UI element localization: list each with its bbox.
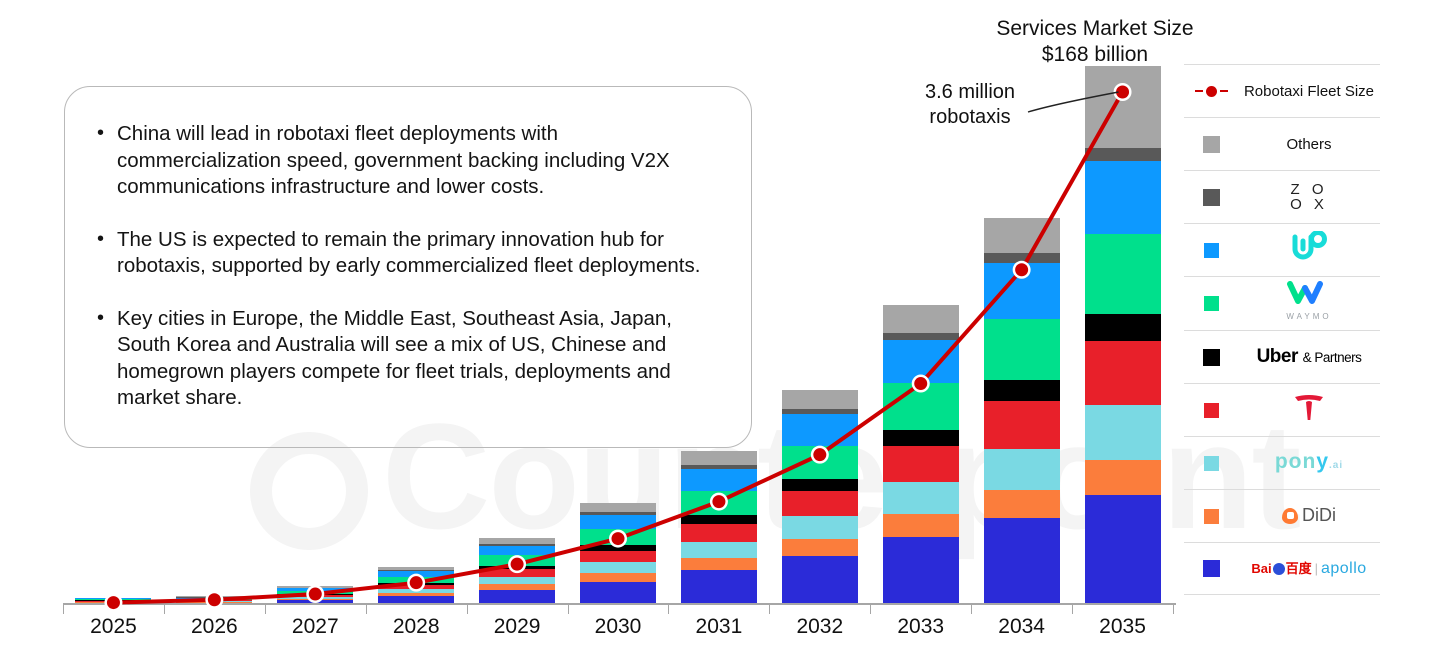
x-axis-label: 2026 [159,615,269,639]
bar-segment-waymo [1085,234,1161,314]
bar-segment-didi [782,539,858,556]
x-axis-tick [1173,605,1174,614]
bar-segment-uber-partners [782,479,858,491]
bar-segment-pony-ai [782,516,858,539]
legend-item-pony-ai[interactable]: pony.ai [1184,436,1380,489]
color-swatch-icon [1184,189,1238,206]
bullet-dot-icon: • [97,120,104,147]
insights-callout-box: •China will lead in robotaxi fleet deplo… [64,86,752,448]
bar-segment-others [681,451,757,464]
x-axis-tick [265,605,266,614]
bar-segment-baidu-apollo [984,518,1060,604]
x-axis-tick [1072,605,1073,614]
x-axis-tick [769,605,770,614]
color-swatch-icon [1184,509,1238,524]
bar-segment-tesla [580,551,656,563]
legend-item-didi[interactable]: DiDi [1184,489,1380,542]
x-axis-tick [870,605,871,614]
insight-text: The US is expected to remain the primary… [117,228,700,278]
bar-segment-waymo [681,491,757,515]
bar-column[interactable] [782,390,858,604]
bar-segment-tesla [479,569,555,577]
bar-segment-zoox [984,253,1060,263]
bar-segment-tesla [782,491,858,517]
legend-item-tesla[interactable] [1184,383,1380,436]
bar-segment-uber-partners [883,430,959,446]
services-market-size-annotation: Services Market Size $168 billion [930,16,1260,68]
bar-segment-others [1085,66,1161,148]
legend-item-robotaxi-fleet-size[interactable]: Robotaxi Fleet Size [1184,64,1380,117]
bar-segment-weride [782,414,858,445]
bar-segment-waymo [984,319,1060,380]
legend-color-swatch [1204,243,1219,258]
legend-color-swatch [1203,189,1220,206]
bar-segment-pony-ai [883,482,959,514]
insight-text: China will lead in robotaxi fleet deploy… [117,122,670,198]
bar-segment-others [984,218,1060,253]
color-swatch-icon [1184,136,1238,153]
x-axis-line [63,603,1176,605]
insights-list: •China will lead in robotaxi fleet deplo… [91,121,721,412]
bar-segment-weride [984,263,1060,319]
x-axis-label: 2033 [866,615,976,639]
x-axis-tick [164,605,165,614]
legend-color-swatch [1204,296,1219,311]
legend-color-swatch [1203,349,1220,366]
x-axis-label: 2032 [765,615,875,639]
x-axis-tick [568,605,569,614]
legend-label-others: Others [1238,135,1380,154]
x-axis-tick [366,605,367,614]
x-axis-label: 2025 [58,615,168,639]
x-axis-tick [668,605,669,614]
legend-label-robotaxi-fleet-size: Robotaxi Fleet Size [1238,82,1380,101]
color-swatch-icon [1184,243,1238,258]
legend-color-swatch [1204,456,1219,471]
bar-segment-tesla [1085,341,1161,405]
insight-text: Key cities in Europe, the Middle East, S… [117,307,672,410]
baidu-apollo-logo-icon: Bai百度|apollo [1238,559,1380,578]
insight-bullet: •Key cities in Europe, the Middle East, … [91,306,721,412]
bar-segment-baidu-apollo [479,590,555,604]
x-axis-label: 2028 [361,615,471,639]
chart-canvas: Services Market Size $168 billion 3.6 mi… [0,0,1180,655]
bar-column[interactable] [883,305,959,604]
bar-segment-others [883,305,959,332]
legend-color-swatch [1203,560,1220,577]
legend-color-swatch [1203,136,1220,153]
bar-segment-others [580,503,656,512]
bar-segment-zoox [1085,148,1161,161]
bar-segment-baidu-apollo [681,570,757,604]
zoox-logo-icon: Z OO X [1238,182,1380,212]
bar-segment-uber-partners [1085,314,1161,341]
bar-segment-waymo [479,555,555,565]
bar-column[interactable] [681,451,757,604]
insight-bullet: •The US is expected to remain the primar… [91,227,721,280]
x-axis-label: 2029 [462,615,572,639]
legend-item-baidu-apollo[interactable]: Bai百度|apollo [1184,542,1380,595]
bar-segment-pony-ai [580,562,656,573]
fleet-size-unit: robotaxis [905,105,1035,130]
bar-segment-baidu-apollo [883,537,959,604]
bar-segment-didi [1085,460,1161,495]
bullet-dot-icon: • [97,305,104,332]
bar-segment-zoox [883,333,959,340]
x-axis-label: 2035 [1068,615,1178,639]
bar-segment-tesla [984,401,1060,449]
bar-segment-weride [681,469,757,491]
bar-segment-baidu-apollo [782,556,858,604]
bar-segment-tesla [883,446,959,483]
bar-column[interactable] [580,503,656,604]
legend-item-weride[interactable] [1184,223,1380,276]
bar-segment-pony-ai [984,449,1060,491]
color-swatch-icon [1184,296,1238,311]
bar-segment-uber-partners [681,515,757,523]
bar-column[interactable] [479,538,555,604]
bar-column[interactable] [277,586,353,604]
bar-segment-didi [580,573,656,581]
market-size-label: Services Market Size [930,16,1260,42]
bar-segment-pony-ai [681,542,757,559]
x-axis-tick [467,605,468,614]
waymo-logo-icon: WAYMO [1238,281,1380,326]
bar-segment-didi [883,514,959,536]
insight-bullet: •China will lead in robotaxi fleet deplo… [91,121,721,201]
color-swatch-icon [1184,349,1238,366]
bar-segment-weride [580,515,656,530]
bar-segment-tesla [681,524,757,542]
x-axis-tick [971,605,972,614]
bar-column[interactable] [984,218,1060,604]
bar-segment-others [782,390,858,409]
didi-logo-icon: DiDi [1238,506,1380,526]
bar-segment-didi [681,558,757,570]
x-axis-label: 2034 [967,615,1077,639]
bar-segment-weride [479,546,555,556]
uber-logo-icon: Uber & Partners [1238,347,1380,367]
legend-item-uber-partners[interactable]: Uber & Partners [1184,330,1380,383]
legend-color-swatch [1204,509,1219,524]
bar-segment-pony-ai [479,577,555,584]
bullet-dot-icon: • [97,226,104,253]
chart-legend: Robotaxi Fleet SizeOthersZ OO XWAYMOUber… [1184,64,1380,595]
legend-color-swatch [1204,403,1219,418]
weride-logo-icon [1238,231,1380,270]
fleet-size-value: 3.6 million [905,80,1035,105]
tesla-logo-icon [1238,392,1380,429]
bar-segment-baidu-apollo [1085,495,1161,604]
bar-segment-weride [1085,161,1161,235]
bar-column[interactable] [378,567,454,604]
bar-segment-didi [984,490,1060,517]
bar-segment-waymo [580,529,656,545]
legend-item-waymo[interactable]: WAYMO [1184,276,1380,330]
dashed-line-marker-icon [1184,86,1238,97]
bar-segment-waymo [782,446,858,480]
bar-segment-uber-partners [984,380,1060,401]
x-axis-label: 2030 [563,615,673,639]
legend-item-others[interactable]: Others [1184,117,1380,170]
bar-segment-baidu-apollo [580,582,656,604]
legend-item-zoox[interactable]: Z OO X [1184,170,1380,223]
color-swatch-icon [1184,403,1238,418]
bar-segment-pony-ai [1085,405,1161,459]
x-axis-label: 2031 [664,615,774,639]
bar-column[interactable] [1085,66,1161,604]
x-axis-label: 2027 [260,615,370,639]
waymo-wordmark: WAYMO [1286,307,1331,326]
fleet-size-annotation: 3.6 million robotaxis [905,80,1035,130]
bar-segment-waymo [883,383,959,429]
color-swatch-icon [1184,560,1238,577]
line-marker-icon [1195,86,1228,97]
bar-segment-weride [883,340,959,383]
pony-ai-logo-icon: pony.ai [1238,452,1380,475]
color-swatch-icon [1184,456,1238,471]
x-axis-tick [63,605,64,614]
